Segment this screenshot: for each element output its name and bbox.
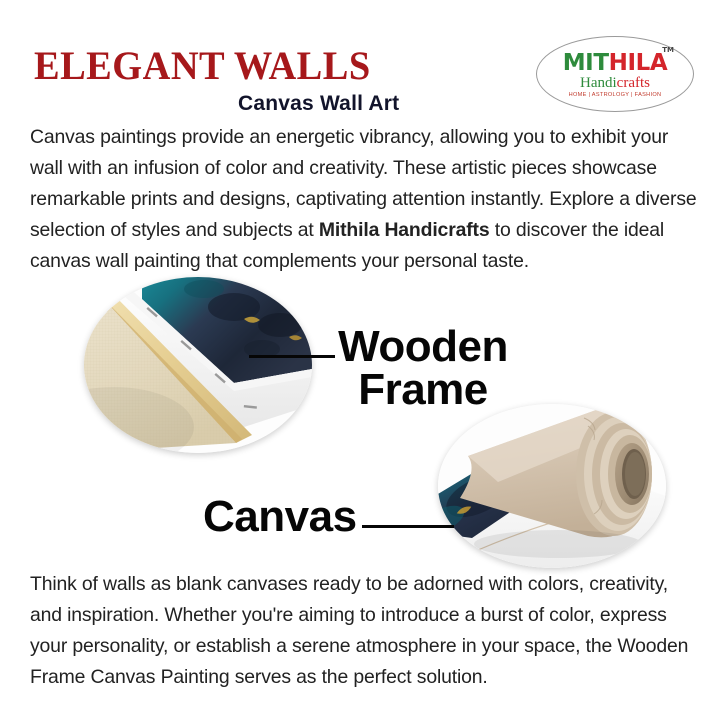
logo-wordmark-part-3: HILA [609,50,668,76]
logo-subtext-part-2: crafts [617,75,650,91]
logo-subtext: Handicrafts [536,76,694,91]
logo-tagline: HOME | ASTROLOGY | FASHION [536,92,694,98]
wooden-frame-photo [84,277,312,453]
canvas-roll-illustration [438,404,666,568]
closing-paragraph: Think of walls as blank canvases ready t… [30,569,700,693]
canvas-leader-line [362,525,454,528]
logo-wordmark: MITHILA [536,52,694,75]
canvas-label: Canvas [203,495,357,538]
page-title: ELEGANT WALLS [34,46,371,86]
wooden-frame-illustration [84,277,312,453]
wooden-frame-label-line2: Frame [332,368,514,411]
logo-wordmark-part-1: MI [563,50,594,76]
logo-wordmark-part-2: T [593,50,608,76]
wooden-frame-label-line1: Wooden [332,325,514,368]
brand-logo: MITHILA TM Handicrafts HOME | ASTROLOGY … [536,36,694,112]
canvas-roll-photo [438,404,666,568]
logo-subtext-part-1: Handi [580,75,617,91]
intro-paragraph-brand-mention: Mithila Handicrafts [319,219,490,241]
wooden-frame-leader-line [249,355,335,358]
infographic-page: ELEGANT WALLS MITHILA TM Handicrafts HOM… [0,0,720,720]
intro-paragraph: Canvas paintings provide an energetic vi… [30,122,700,277]
wooden-frame-label: Wooden Frame [332,325,514,411]
trademark-icon: TM [662,46,674,54]
page-subtitle: Canvas Wall Art [238,92,399,116]
